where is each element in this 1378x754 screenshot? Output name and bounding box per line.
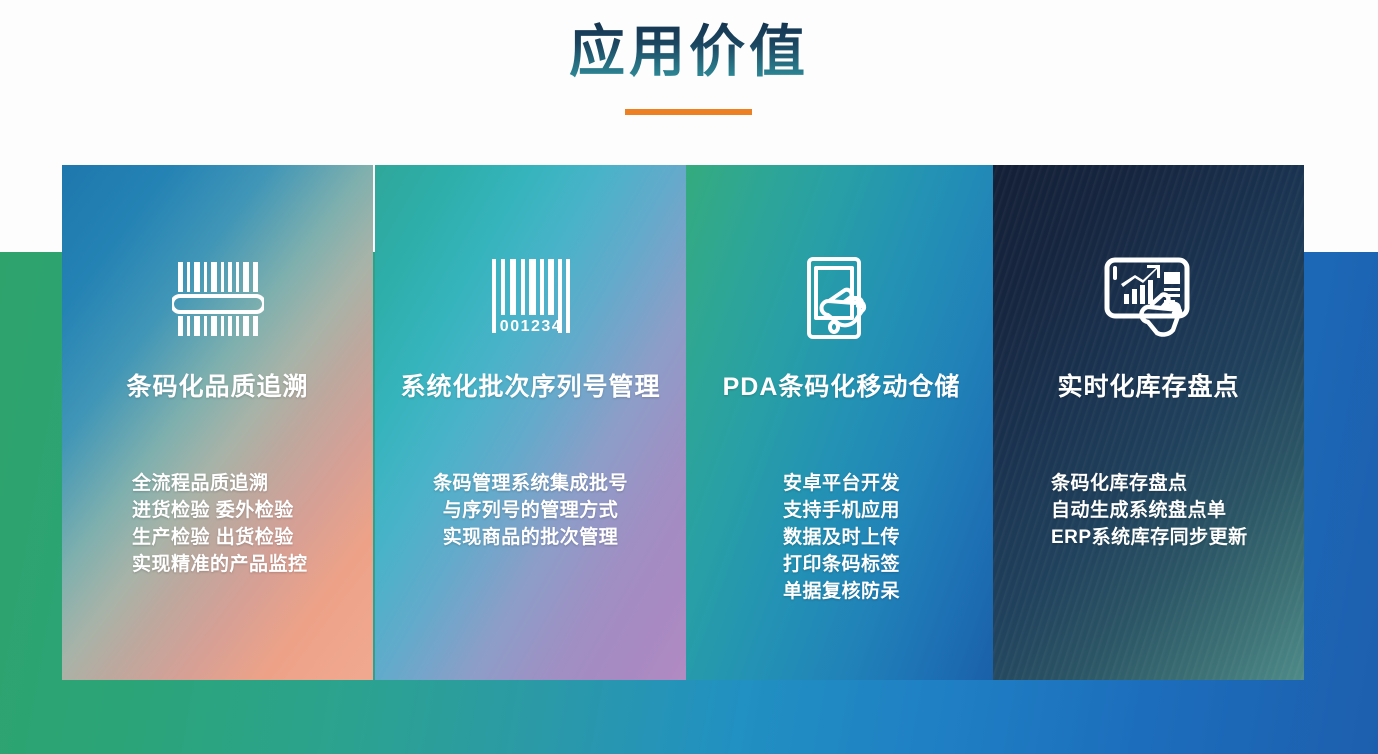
application-value-section: 应用价值 <box>0 0 1378 754</box>
tablet-chart-touch-icon <box>993 251 1304 347</box>
card-title: 系统化批次序列号管理 <box>375 370 686 404</box>
card-body-line: 全流程品质追溯 <box>132 470 332 497</box>
card-body: 安卓平台开发 支持手机应用 数据及时上传 打印条码标签 单据复核防呆 <box>710 470 973 605</box>
card-title: PDA条码化移动仓储 <box>686 370 997 404</box>
card-body-line: 数据及时上传 <box>710 524 973 551</box>
card-body-line: 自动生成系统盘点单 <box>1051 497 1277 524</box>
card-body: 条码管理系统集成批号 与序列号的管理方式 实现商品的批次管理 <box>399 470 662 551</box>
value-card-realtime-inventory[interactable]: 实时化库存盘点 条码化库存盘点 自动生成系统盘点单 ERP系统库存同步更新 <box>993 165 1304 680</box>
card-body-line: 条码化库存盘点 <box>1051 470 1277 497</box>
barcode-scanner-icon <box>62 251 373 347</box>
card-body-line: 条码管理系统集成批号 <box>399 470 662 497</box>
card-body-line: 进货检验 委外检验 <box>132 497 332 524</box>
card-body-line: 与序列号的管理方式 <box>399 497 662 524</box>
card-body-line: 打印条码标签 <box>710 551 973 578</box>
value-card-batch-serial[interactable]: 001234 系统化批次序列号管理 条码管理系统集成批号 与序列号的管理方式 实… <box>375 165 686 680</box>
card-body-line: 生产检验 出货检验 <box>132 524 332 551</box>
tablet-touch-icon <box>686 251 997 347</box>
card-body-line: ERP系统库存同步更新 <box>1051 524 1277 551</box>
card-body: 全流程品质追溯 进货检验 委外检验 生产检验 出货检验 实现精准的产品监控 <box>132 470 332 578</box>
card-body-line: 单据复核防呆 <box>710 578 973 605</box>
card-title: 条码化品质追溯 <box>62 370 373 404</box>
card-body-line: 支持手机应用 <box>710 497 973 524</box>
value-card-pda-warehouse[interactable]: PDA条码化移动仓储 安卓平台开发 支持手机应用 数据及时上传 打印条码标签 单… <box>686 165 997 680</box>
diagonal-streak-overlay <box>993 165 1304 680</box>
page-title: 应用价值 <box>0 16 1378 88</box>
card-body-line: 安卓平台开发 <box>710 470 973 497</box>
card-body-line: 实现商品的批次管理 <box>399 524 662 551</box>
card-body-line: 实现精准的产品监控 <box>132 551 332 578</box>
value-card-barcode-quality[interactable]: 条码化品质追溯 全流程品质追溯 进货检验 委外检验 生产检验 出货检验 实现精准… <box>62 165 373 680</box>
barcode-digits: 001234 <box>499 318 561 335</box>
barcode-number-icon: 001234 <box>375 251 686 347</box>
card-body: 条码化库存盘点 自动生成系统盘点单 ERP系统库存同步更新 <box>1051 470 1277 551</box>
card-title: 实时化库存盘点 <box>993 370 1304 404</box>
title-underline-accent <box>625 109 752 115</box>
section-header: 应用价值 <box>0 0 1378 165</box>
